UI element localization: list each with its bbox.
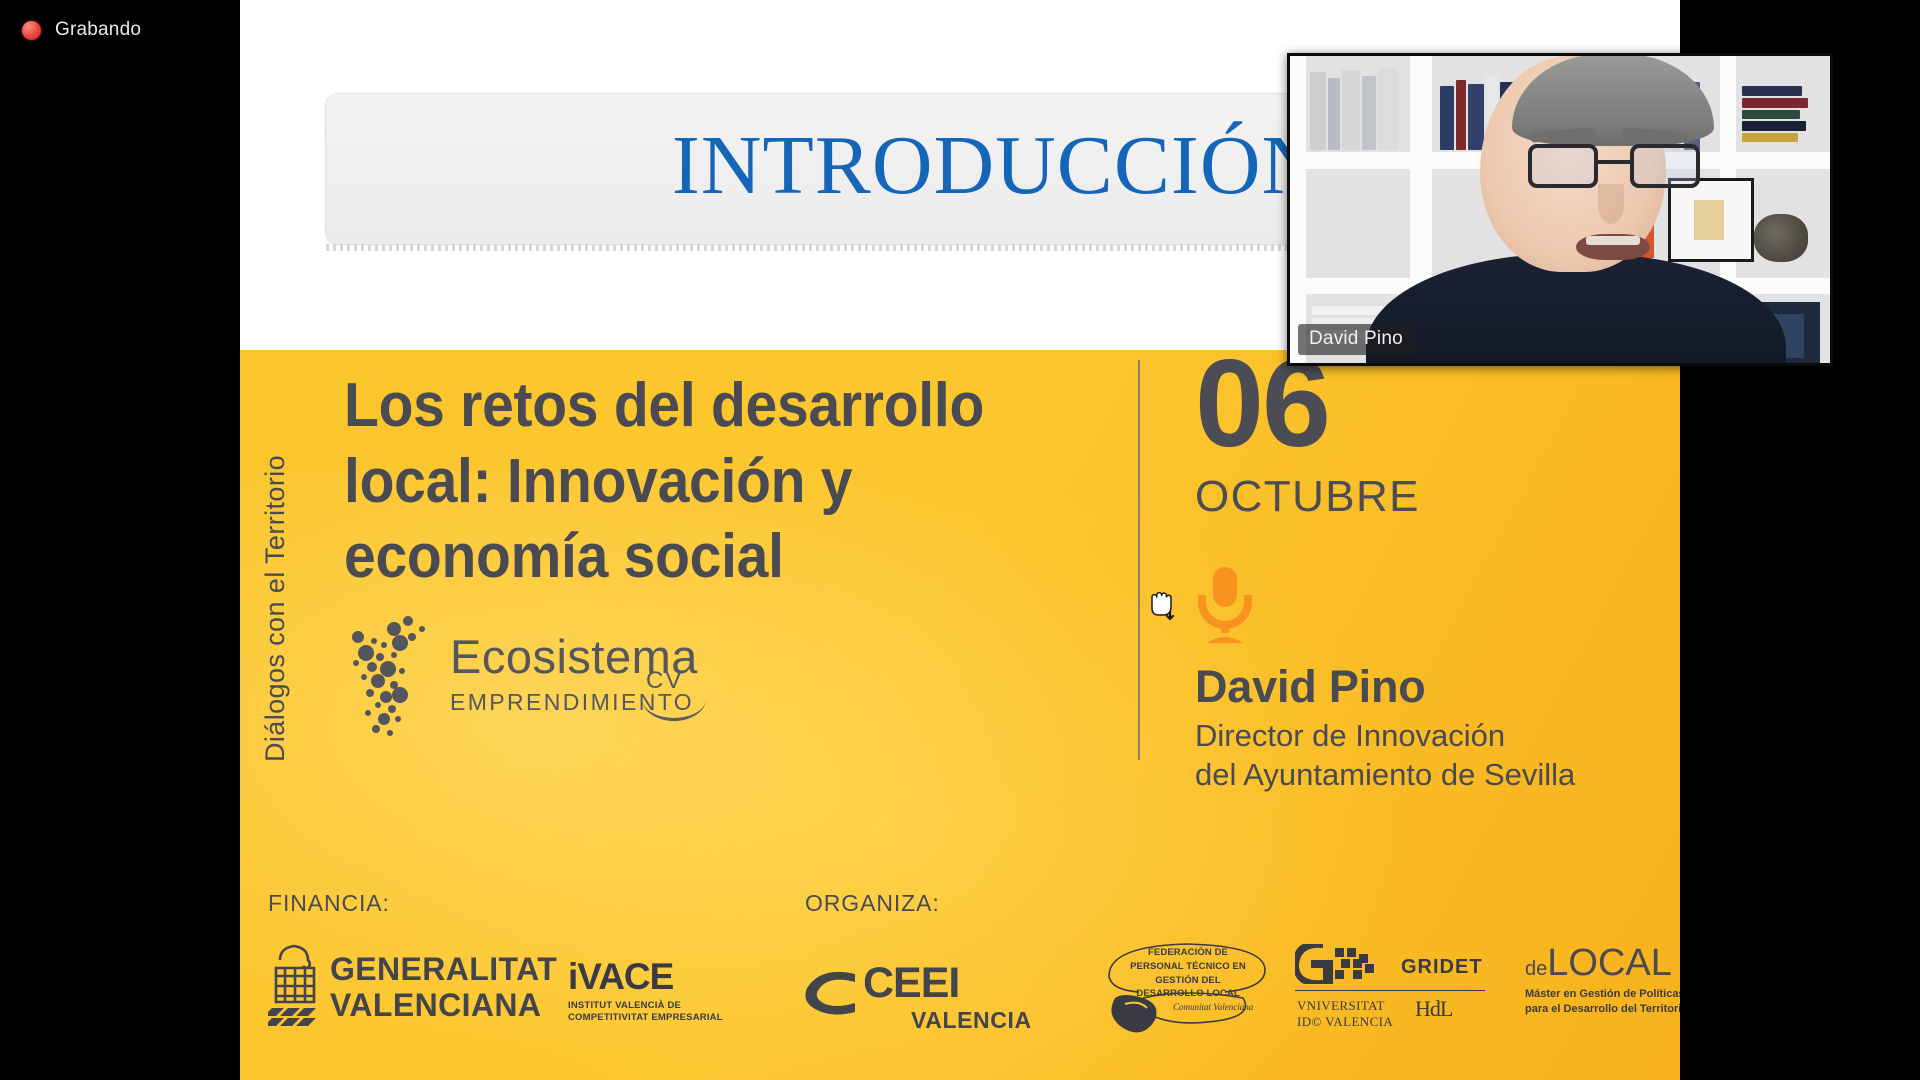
ivace-subtitle: INSTITUT VALENCIÀ DE COMPETITIVITAT EMPR… xyxy=(568,1000,748,1024)
generalitat-crest-icon xyxy=(268,940,322,1032)
event-month: OCTUBRE xyxy=(1195,472,1420,522)
ceei-subtitle: VALENCIA xyxy=(911,1007,1032,1034)
generalitat-line2: VALENCIANA xyxy=(330,988,557,1024)
financia-label: FINANCIA: xyxy=(268,890,390,917)
delocal-main: LOCAL xyxy=(1547,942,1672,984)
speaker-name: David Pino xyxy=(1195,662,1575,712)
slide-yellow-panel: Diálogos con el Territorio Los retos del… xyxy=(240,350,1680,1080)
delocal-wordmark: deLOCAL xyxy=(1525,944,1680,982)
ivace-sub-line1: INSTITUT VALENCIÀ DE xyxy=(568,1000,748,1012)
ecosistema-cv: CV xyxy=(646,667,683,695)
speaker-role: Director de Innovación del Ayuntamiento … xyxy=(1195,716,1575,795)
event-date: 06 OCTUBRE xyxy=(1195,350,1420,522)
ecosistema-smile-icon xyxy=(642,699,706,721)
glasses-icon xyxy=(1528,144,1700,188)
ceei-swoosh-icon xyxy=(797,966,861,1020)
webcam-person xyxy=(1440,53,1710,366)
federacion-line2: PERSONAL TÉCNICO EN xyxy=(1123,960,1253,974)
logo-delocal: deLOCAL Máster en Gestión de Políticas p… xyxy=(1525,944,1680,1018)
uv-line1: VNIVERSITAT xyxy=(1297,998,1393,1014)
recording-indicator: Grabando xyxy=(0,0,240,60)
federacion-line3: GESTIÓN DEL DESARROLLO LOCAL xyxy=(1123,974,1253,1002)
ivace-wordmark: iVACE xyxy=(568,958,748,995)
screen-root: Grabando INTRODUCCIÓN Diálogos con el Te… xyxy=(0,0,1920,1080)
generalitat-wordmark: GENERALITAT VALENCIANA xyxy=(330,952,557,1024)
recording-label: Grabando xyxy=(55,19,141,41)
uv-line2: ID© VALENCIA xyxy=(1297,1014,1393,1030)
speaker-role-line2: del Ayuntamiento de Sevilla xyxy=(1195,755,1575,795)
slide-headline: Los retos del desarrollo local: Innovaci… xyxy=(344,368,1043,595)
logo-federacion: FEDERACIÓN DE PERSONAL TÉCNICO EN GESTIÓ… xyxy=(1095,934,1275,1044)
delocal-subtitle: Máster en Gestión de Políticas para el D… xyxy=(1525,987,1680,1018)
person-head xyxy=(1480,56,1666,272)
delocal-sub-line1: Máster en Gestión de Políticas xyxy=(1525,987,1680,1002)
series-label: Diálogos con el Territorio xyxy=(260,350,294,762)
delocal-sub-line2: para el Desarrollo del Territorio xyxy=(1525,1002,1680,1017)
webcam-video xyxy=(1290,56,1830,363)
hdl-wordmark: HdL xyxy=(1415,996,1452,1022)
speaker-info: David Pino Director de Innovación del Ay… xyxy=(1195,565,1575,795)
microphone-icon xyxy=(1195,565,1255,645)
federacion-text: FEDERACIÓN DE PERSONAL TÉCNICO EN GESTIÓ… xyxy=(1123,946,1253,1001)
universitat-valencia-text: VNIVERSITAT ID© VALENCIA xyxy=(1297,998,1393,1029)
organiza-label: ORGANIZA: xyxy=(805,890,940,917)
delocal-prefix: de xyxy=(1525,958,1547,980)
generalitat-line1: GENERALITAT xyxy=(330,952,557,988)
gridet-divider xyxy=(1295,990,1485,991)
vertical-divider xyxy=(1138,360,1140,760)
webcam-tile[interactable]: David Pino xyxy=(1287,53,1833,366)
ecosistema-logo: Ecosistema EMPRENDIMIENTO CV xyxy=(350,615,770,745)
participant-name-label: David Pino xyxy=(1298,324,1414,355)
grab-hand-cursor xyxy=(1146,586,1180,624)
gridet-wordmark: GRIDET xyxy=(1401,956,1483,979)
ceei-wordmark: CEEI xyxy=(863,962,1032,1005)
federacion-badge: Comunitat Valenciana xyxy=(1173,1002,1253,1012)
logo-ivace: iVACE INSTITUT VALENCIÀ DE COMPETITIVITA… xyxy=(568,958,748,1024)
speaker-role-line1: Director de Innovación xyxy=(1195,716,1575,756)
ivace-sub-line2: COMPETITIVITAT EMPRESARIAL xyxy=(568,1012,748,1024)
record-dot-icon xyxy=(22,21,41,40)
gridet-mark-icon xyxy=(1295,944,1391,984)
event-day: 06 xyxy=(1195,350,1420,466)
federacion-line1: FEDERACIÓN DE xyxy=(1123,946,1253,960)
ecosistema-dots-icon xyxy=(350,615,446,743)
